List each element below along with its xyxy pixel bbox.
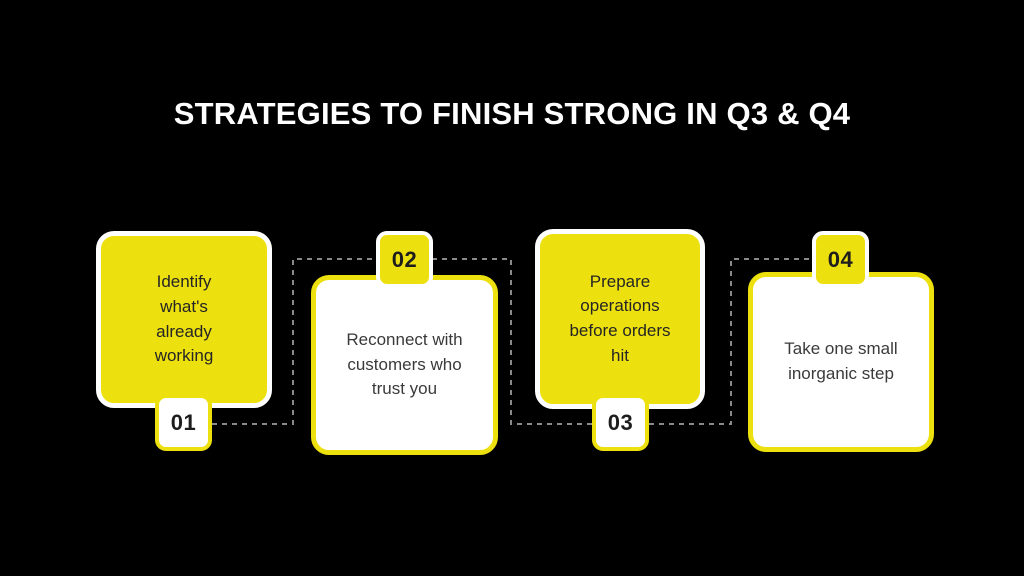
step-card-01-text: Identify what's already working (141, 270, 228, 369)
step-badge-02: 02 (376, 231, 433, 288)
step-badge-01-number: 01 (171, 410, 196, 436)
step-card-02-text: Reconnect with customers who trust you (332, 328, 476, 402)
page-title: STRATEGIES TO FINISH STRONG IN Q3 & Q4 (0, 96, 1024, 132)
step-card-01[interactable]: Identify what's already working (96, 231, 272, 408)
step-badge-04: 04 (812, 231, 869, 288)
step-badge-03: 03 (592, 394, 649, 451)
step-card-04[interactable]: Take one small inorganic step (748, 272, 934, 452)
step-card-02[interactable]: Reconnect with customers who trust you (311, 275, 498, 455)
step-badge-04-number: 04 (828, 247, 853, 273)
step-card-03-text: Prepare operations before orders hit (555, 270, 684, 369)
step-badge-03-number: 03 (608, 410, 633, 436)
step-badge-02-number: 02 (392, 247, 417, 273)
step-card-03[interactable]: Prepare operations before orders hit (535, 229, 705, 409)
step-badge-01: 01 (155, 394, 212, 451)
step-card-04-text: Take one small inorganic step (770, 337, 911, 386)
slide-canvas: STRATEGIES TO FINISH STRONG IN Q3 & Q4 I… (0, 0, 1024, 576)
